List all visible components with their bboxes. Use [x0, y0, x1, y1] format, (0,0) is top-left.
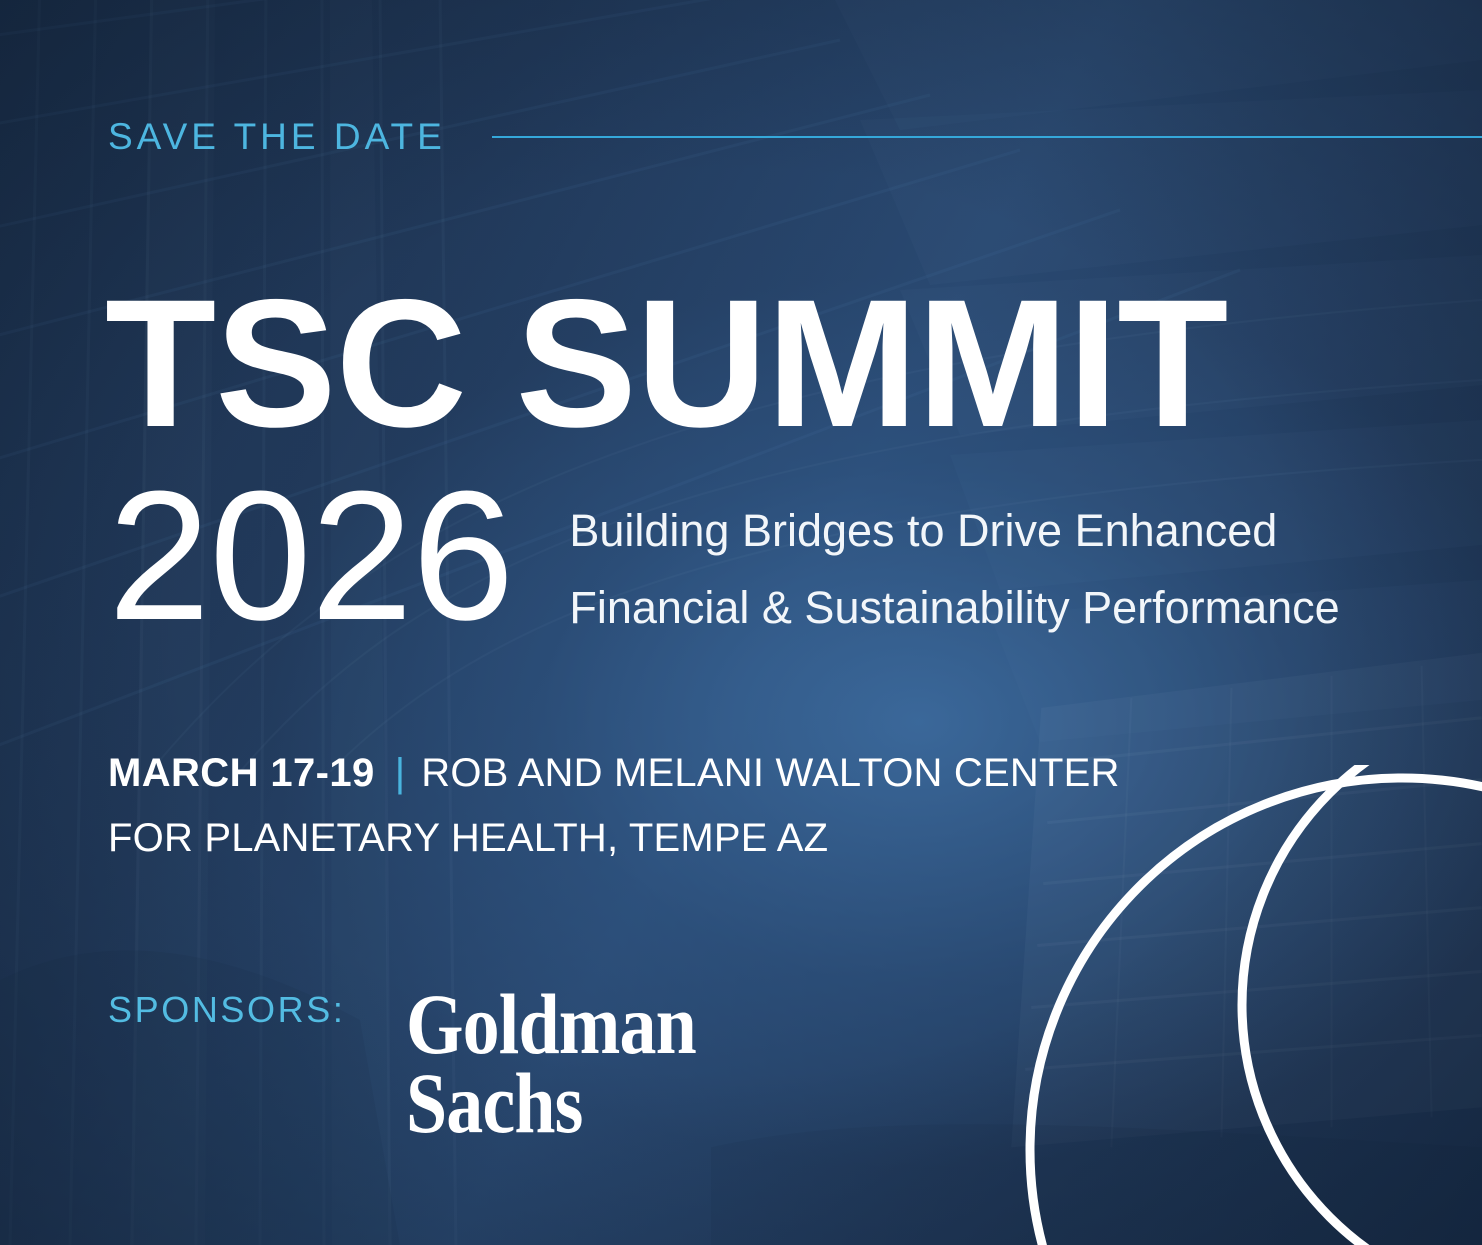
date-venue-separator: | — [375, 751, 422, 795]
tagline-line-2: Financial & Sustainability Performance — [569, 569, 1339, 646]
sponsors-block: SPONSORS: Goldman Sachs — [108, 985, 744, 1143]
save-the-date-poster: SAVE THE DATE TSC SUMMIT 2026 Building B… — [0, 0, 1482, 1245]
date-venue-line-1: MARCH 17-19|ROB AND MELANI WALTON CENTER — [108, 741, 1120, 806]
tagline-line-1: Building Bridges to Drive Enhanced — [569, 492, 1339, 569]
date-and-venue-block: MARCH 17-19|ROB AND MELANI WALTON CENTER… — [108, 741, 1120, 871]
year-and-tagline-row: 2026 Building Bridges to Drive Enhanced … — [108, 470, 1340, 647]
event-date: MARCH 17-19 — [108, 751, 375, 795]
goldman-sachs-logo: Goldman Sachs — [406, 985, 696, 1143]
poster-content: SAVE THE DATE TSC SUMMIT 2026 Building B… — [0, 0, 1482, 1245]
venue-line-2: FOR PLANETARY HEALTH, TEMPE AZ — [108, 806, 1120, 871]
venue-line-1: ROB AND MELANI WALTON CENTER — [421, 751, 1119, 795]
eyebrow-label: SAVE THE DATE — [108, 118, 446, 155]
sponsor-logo-line-1: Goldman — [406, 985, 696, 1064]
sponsors-label: SPONSORS: — [108, 985, 345, 1028]
event-tagline: Building Bridges to Drive Enhanced Finan… — [569, 470, 1339, 647]
sponsor-logo-line-2: Sachs — [406, 1064, 696, 1143]
page-title: TSC SUMMIT — [105, 272, 1227, 454]
eyebrow-divider-rule — [492, 136, 1482, 138]
eyebrow-row: SAVE THE DATE — [108, 118, 1482, 155]
event-year: 2026 — [108, 470, 513, 641]
